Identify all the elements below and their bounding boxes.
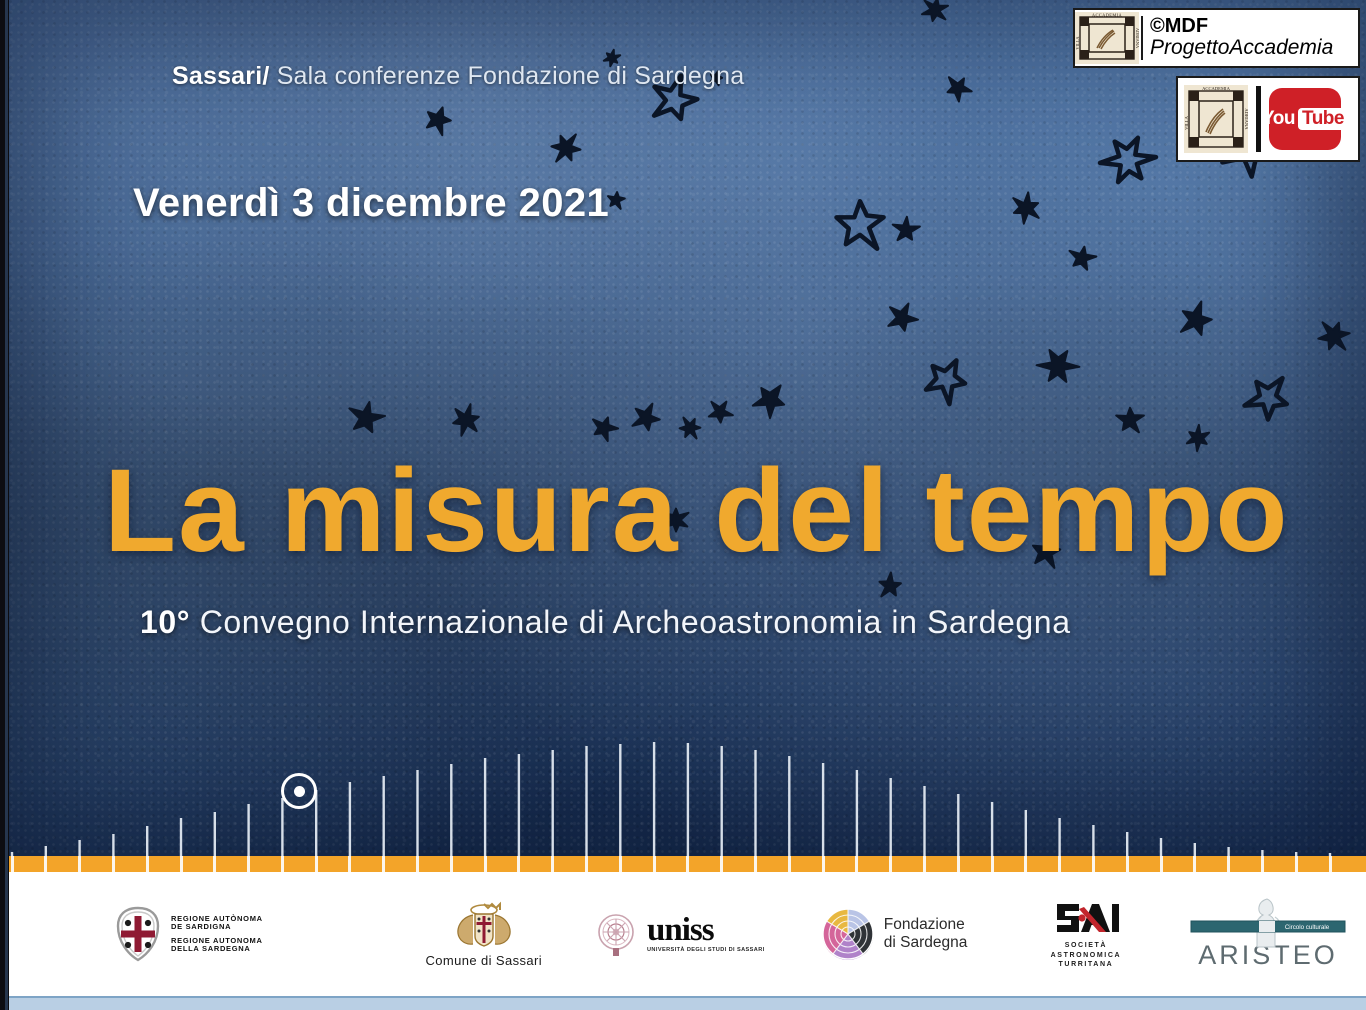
uniss-seal-icon <box>595 910 637 958</box>
baseline-tick <box>1295 856 1298 872</box>
mdf-copyright-line: ©MDF <box>1150 16 1333 37</box>
baseline-tick <box>855 856 858 872</box>
baseline-tick <box>1126 856 1129 872</box>
sponsor-footer: REGIONE AUTÒNOMA DE SARDIGNA REGIONE AUT… <box>0 872 1366 996</box>
villa-adriana-accademia-mark-icon-2: ACCADEMIA VILLA ADRIANA <box>1184 85 1248 153</box>
baseline-tick <box>957 856 960 872</box>
aristeo-tagline: Circolo culturale <box>1285 924 1330 931</box>
uniss-tagline: UNIVERSITÀ DEGLI STUDI DI SASSARI <box>647 947 765 953</box>
baseline-tick <box>788 856 791 872</box>
sat-line-3: TURRITANA <box>1059 960 1114 969</box>
venue-line: Sassari/ Sala conferenze Fondazione di S… <box>172 62 744 91</box>
villa-adriana-accademia-mark-icon: ACCADEMIA VILLA ADRIANA <box>1075 12 1139 64</box>
baseline-tick <box>923 856 926 872</box>
event-date: Venerdì 3 dicembre 2021 <box>133 181 609 226</box>
mdf-mark-top-caption: ACCADEMIA <box>1092 13 1123 18</box>
left-edge-highlight <box>5 0 8 1010</box>
baseline-tick <box>686 856 689 872</box>
orange-baseline-bar <box>0 856 1366 872</box>
baseline-tick <box>78 856 81 872</box>
poster-subtitle: 10° Convegno Internazionale di Archeoast… <box>140 604 1071 641</box>
baseline-tick <box>720 856 723 872</box>
regione-shield-icon <box>115 906 161 962</box>
baseline-tick <box>146 856 149 872</box>
badge-youtube-channel[interactable]: ACCADEMIA VILLA ADRIANA YouTube <box>1176 76 1360 162</box>
baseline-tick <box>1329 856 1332 872</box>
baseline-tick <box>180 856 183 872</box>
mdf-mark-left-caption: VILLA <box>1075 36 1080 50</box>
poster-title: La misura del tempo <box>104 452 1304 570</box>
sat-line-2: ASTRONOMICA <box>1051 951 1122 960</box>
logo-societa-astronomica-turritana: SOCIETÀ ASTRONOMICA TURRITANA <box>1002 898 1170 969</box>
venue-hall: Sala conferenze Fondazione di Sardegna <box>277 62 745 90</box>
comune-label: Comune di Sassari <box>425 953 542 968</box>
baseline-tick <box>281 856 284 872</box>
yt-mark-right-caption: ADRIANA <box>1244 108 1248 130</box>
youtube-logo-icon[interactable]: YouTube <box>1269 88 1341 150</box>
sat-line-1: SOCIETÀ <box>1065 941 1107 950</box>
baseline-tick <box>653 856 656 872</box>
yt-mark-top-caption: ACCADEMIA <box>1202 86 1231 91</box>
baseline-tick <box>348 856 351 872</box>
poster-slide: Sassari/ Sala conferenze Fondazione di S… <box>0 0 1366 1010</box>
sun-dot-icon <box>281 773 317 809</box>
sky-background <box>0 0 1366 858</box>
sundial-shadow-graphic <box>0 735 1366 858</box>
baseline-tick <box>382 856 385 872</box>
logo-aristeo: Circolo culturale ARISTEO <box>1170 897 1366 971</box>
fondazione-line-1: Fondazione <box>884 916 968 934</box>
venue-separator: / <box>262 62 269 90</box>
sponsor-logo-row: REGIONE AUTÒNOMA DE SARDIGNA REGIONE AUT… <box>0 872 1366 996</box>
baseline-tick <box>44 856 47 872</box>
youtube-divider <box>1256 86 1261 152</box>
subtitle-text: Convegno Internazionale di Archeoastrono… <box>200 604 1071 640</box>
baseline-tick <box>1058 856 1061 872</box>
comune-crest-icon <box>451 901 517 949</box>
logo-uniss: uniss UNIVERSITÀ DEGLI STUDI DI SASSARI <box>572 910 787 958</box>
logo-regione-sardegna: REGIONE AUTÒNOMA DE SARDIGNA REGIONE AUT… <box>0 906 395 962</box>
aristeo-statue-icon: Circolo culturale <box>1183 897 1353 949</box>
baseline-tick <box>585 856 588 872</box>
fondazione-pinwheel-icon <box>822 908 874 960</box>
uniss-wordmark: uniss <box>647 915 714 946</box>
baseline-tick <box>551 856 554 872</box>
baseline-tick <box>1261 856 1264 872</box>
baseline-tick <box>754 856 757 872</box>
baseline-tick <box>450 856 453 872</box>
venue-city: Sassari <box>172 62 262 90</box>
badge-mdf-progetto-accademia[interactable]: ACCADEMIA VILLA ADRIANA ©MDF ProgettoAcc… <box>1073 8 1360 68</box>
subtitle-ordinal: 10° <box>140 604 190 640</box>
baseline-tick <box>247 856 250 872</box>
regione-line-2: DE SARDIGNA <box>171 923 263 931</box>
baseline-tick <box>213 856 216 872</box>
baseline-tick <box>484 856 487 872</box>
baseline-tick <box>1024 856 1027 872</box>
youtube-you-text: You <box>1262 108 1295 130</box>
baseline-tick <box>1160 856 1163 872</box>
baseline-tick <box>416 856 419 872</box>
baseline-tick <box>1227 856 1230 872</box>
baseline-tick <box>619 856 622 872</box>
regione-line-4: DELLA SARDEGNA <box>171 945 263 953</box>
mdf-mark-right-caption: ADRIANA <box>1135 28 1139 49</box>
baseline-tick <box>1193 856 1196 872</box>
baseline-tick <box>11 856 14 872</box>
yt-mark-left-caption: VILLA <box>1184 115 1189 129</box>
baseline-tick <box>822 856 825 872</box>
baseline-tick <box>315 856 318 872</box>
logo-comune-di-sassari: Comune di Sassari <box>395 901 572 968</box>
baseline-tick <box>112 856 115 872</box>
bottom-accent-bar <box>9 996 1366 1010</box>
baseline-tick <box>991 856 994 872</box>
mdf-project-line: ProgettoAccademia <box>1150 37 1333 59</box>
baseline-tick <box>889 856 892 872</box>
sat-monogram-icon <box>1051 898 1121 938</box>
baseline-tick <box>1092 856 1095 872</box>
fondazione-line-2: di Sardegna <box>884 934 968 952</box>
mdf-divider <box>1141 16 1143 60</box>
baseline-tick <box>517 856 520 872</box>
logo-fondazione-di-sardegna: Fondazione di Sardegna <box>787 908 1002 960</box>
youtube-tube-text: Tube <box>1298 108 1348 130</box>
